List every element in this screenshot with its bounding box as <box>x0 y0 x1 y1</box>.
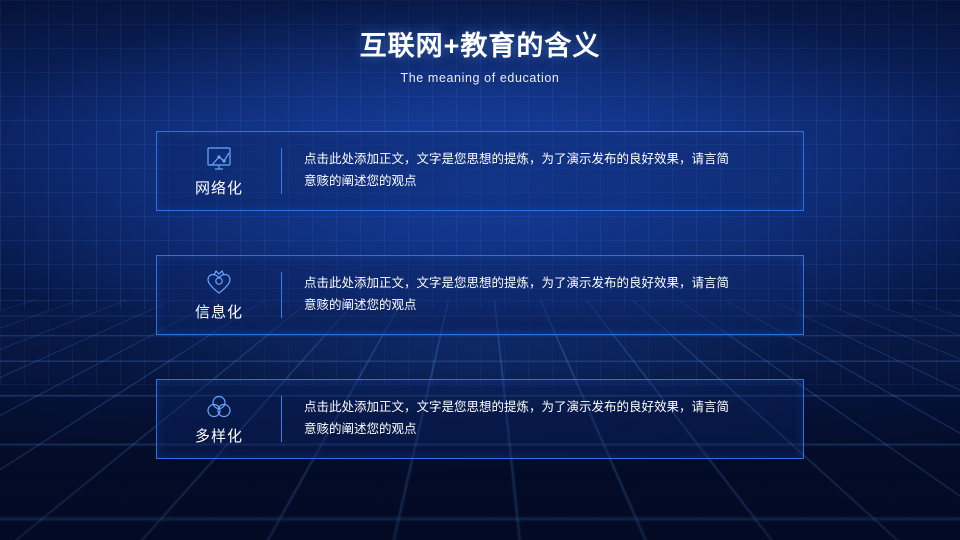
network-node-icon <box>202 144 236 174</box>
card-body: 点击此处添加正文，文字是您思想的提炼，为了演示发布的良好效果，请言简 意赅的阐述… <box>282 397 803 441</box>
card-left-column: 网络化 <box>157 132 281 210</box>
card-left-column: 多样化 <box>157 380 281 458</box>
card-body: 点击此处添加正文，文字是您思想的提炼，为了演示发布的良好效果，请言简 意赅的阐述… <box>282 149 803 193</box>
card-text-line-2: 意赅的阐述您的观点 <box>304 419 787 441</box>
card-body: 点击此处添加正文，文字是您思想的提炼，为了演示发布的良好效果，请言简 意赅的阐述… <box>282 273 803 317</box>
card-left-column: 信息化 <box>157 256 281 334</box>
card-label: 信息化 <box>195 301 243 322</box>
page-subtitle: The meaning of education <box>0 71 960 85</box>
venn-circles-icon <box>202 392 236 422</box>
card-label: 多样化 <box>195 425 243 446</box>
card-text-line-2: 意赅的阐述您的观点 <box>304 295 787 317</box>
card-text-line-1: 点击此处添加正文，文字是您思想的提炼，为了演示发布的良好效果，请言简 <box>304 273 787 295</box>
card-label: 网络化 <box>195 177 243 198</box>
page-title: 互联网+教育的含义 <box>0 30 960 64</box>
card-text-line-2: 意赅的阐述您的观点 <box>304 171 787 193</box>
content-card[interactable]: 多样化 点击此处添加正文，文字是您思想的提炼，为了演示发布的良好效果，请言简 意… <box>156 379 804 459</box>
content-card[interactable]: 信息化 点击此处添加正文，文字是您思想的提炼，为了演示发布的良好效果，请言简 意… <box>156 255 804 335</box>
card-text-line-1: 点击此处添加正文，文字是您思想的提炼，为了演示发布的良好效果，请言简 <box>304 397 787 419</box>
content-card-list: 网络化 点击此处添加正文，文字是您思想的提炼，为了演示发布的良好效果，请言简 意… <box>0 131 960 459</box>
card-text-line-1: 点击此处添加正文，文字是您思想的提炼，为了演示发布的良好效果，请言简 <box>304 149 787 171</box>
slide: 互联网+教育的含义 The meaning of education 网络化 <box>0 0 960 540</box>
content-card[interactable]: 网络化 点击此处添加正文，文字是您思想的提炼，为了演示发布的良好效果，请言简 意… <box>156 131 804 211</box>
heart-crown-icon <box>202 268 236 298</box>
slide-header: 互联网+教育的含义 The meaning of education <box>0 30 960 85</box>
